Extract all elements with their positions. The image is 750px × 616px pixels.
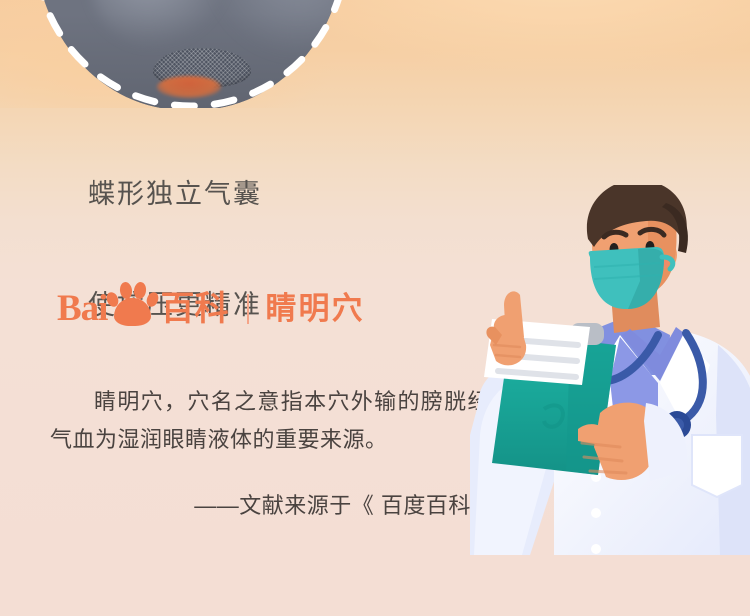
- baidu-baike-logo-bar: Bai 百科 睛明穴: [57, 283, 364, 327]
- baidu-wordmark: Bai: [57, 290, 107, 327]
- coat-button: [591, 508, 601, 518]
- promo-page: 蝶形独立气囊 使按压更精准 Bai 百科 睛明穴 睛明穴，穴名之意指本穴外输的膀…: [0, 0, 750, 616]
- coat-button: [591, 544, 601, 554]
- device-bottom-shadow: [35, 14, 345, 108]
- doctor-illustration: [470, 185, 750, 555]
- finger-line: [590, 471, 626, 473]
- article-body: 睛明穴，穴名之意指本穴外输的膀胱经气血为湿润眼睛液体的重要来源。: [50, 383, 490, 459]
- headline-line-1: 蝶形独立气囊: [88, 176, 262, 213]
- hero-product-photo: [0, 0, 750, 108]
- acupoint-title: 睛明穴: [265, 291, 364, 327]
- headline: 蝶形独立气囊 使按压更精准: [88, 102, 262, 398]
- massager-device-image: [35, 0, 345, 108]
- logo-divider: [247, 294, 249, 324]
- coat-pocket: [692, 435, 742, 497]
- paw-toe: [119, 281, 133, 300]
- article-citation: ——文献来源于《 百度百科 》: [50, 489, 500, 523]
- baidu-paw-icon: [105, 279, 158, 327]
- paw-toe: [133, 281, 147, 300]
- baike-wordmark: 百科: [160, 291, 228, 327]
